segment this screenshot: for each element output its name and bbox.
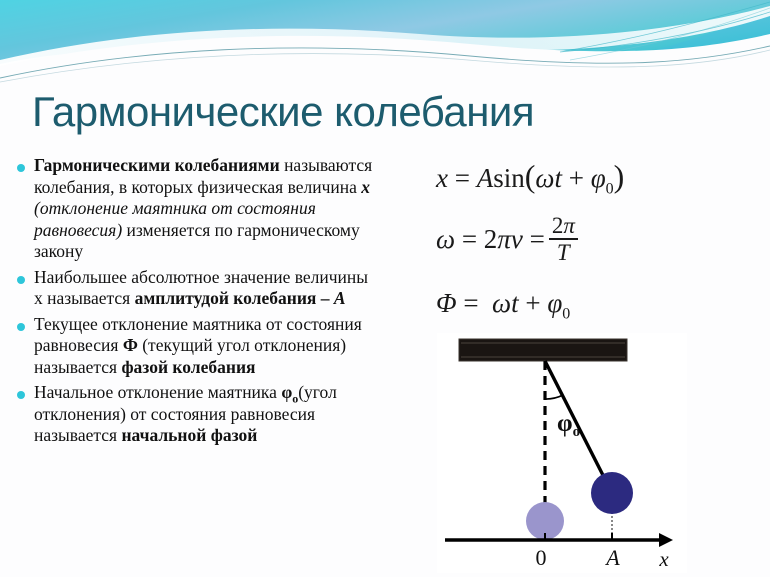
bullet-text-amplitude: Наибольшее абсолютное значение величины … <box>34 267 400 310</box>
list-item: Текущее отклонение маятника от состояния… <box>8 314 400 379</box>
amplitude-label: A <box>604 545 620 570</box>
bullet-dot-icon <box>17 164 25 172</box>
bullet-text-phase: Текущее отклонение маятника от состояния… <box>34 314 400 379</box>
page-title: Гармонические колебания <box>32 88 738 136</box>
fraction-2pi-over-T: 2π T <box>549 214 578 264</box>
bullet-list: Гармоническими колебаниями называются ко… <box>8 155 400 451</box>
slide: Гармонические колебания Гармоническими к… <box>0 0 770 577</box>
origin-label: 0 <box>536 545 547 570</box>
list-item: Наибольшее абсолютное значение величины … <box>8 267 400 310</box>
formula-displacement: x = Asin(ωt + φ0) <box>436 158 624 195</box>
bullet-text-initial-phase: Начальное отклонение маятника φо(угол от… <box>34 382 400 447</box>
pendulum-diagram: 0 A x φо <box>437 333 687 573</box>
list-item: Начальное отклонение маятника φо(угол от… <box>8 382 400 447</box>
bullet-dot-icon <box>17 276 25 284</box>
x-axis-label: x <box>658 547 669 571</box>
formula-angular-frequency: ω = 2πν = 2π T <box>436 214 578 264</box>
bullet-text-definition: Гармоническими колебаниями называются ко… <box>34 155 400 263</box>
bullet-dot-icon <box>17 391 25 399</box>
formula-block: x = Asin(ωt + φ0) ω = 2πν = 2π T Φ = ωt … <box>420 152 760 332</box>
list-item: Гармоническими колебаниями называются ко… <box>8 155 400 263</box>
support-bar <box>459 339 627 361</box>
header-wave-decoration <box>0 0 770 92</box>
formula-phase: Φ = ωt + φ0 <box>436 288 570 319</box>
bob-displaced <box>591 472 633 514</box>
bullet-dot-icon <box>17 323 25 331</box>
